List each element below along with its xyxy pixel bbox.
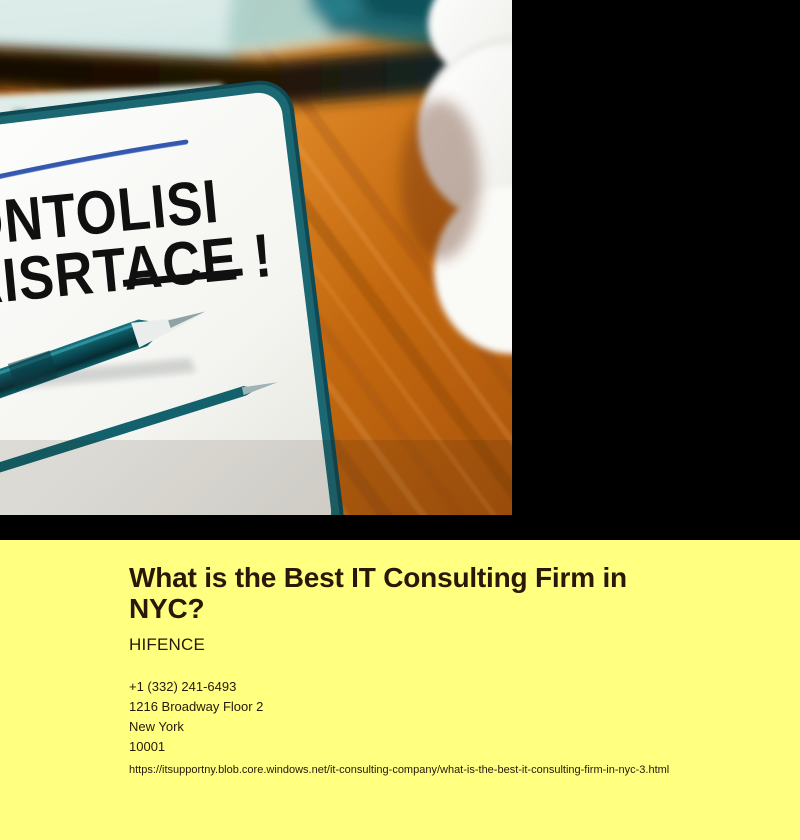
source-url[interactable]: https://itsupportny.blob.core.windows.ne… xyxy=(129,763,729,777)
contact-city: New York xyxy=(129,717,729,737)
brand-name: HIFENCE xyxy=(129,635,729,655)
contact-phone[interactable]: +1 (332) 241-6493 xyxy=(129,677,729,697)
contact-block: +1 (332) 241-6493 1216 Broadway Floor 2 … xyxy=(129,677,729,757)
info-content: What is the Best IT Consulting Firm in N… xyxy=(129,562,729,777)
desk-notepad-photo: ONTOLISI AISRTACE ! xyxy=(0,0,512,515)
info-panel: What is the Best IT Consulting Firm in N… xyxy=(0,540,800,840)
hero-image: ONTOLISI AISRTACE ! xyxy=(0,0,512,515)
page-title: What is the Best IT Consulting Firm in N… xyxy=(129,562,689,624)
page-root: ONTOLISI AISRTACE ! xyxy=(0,0,800,840)
contact-street: 1216 Broadway Floor 2 xyxy=(129,697,729,717)
contact-postal-code: 10001 xyxy=(129,737,729,757)
